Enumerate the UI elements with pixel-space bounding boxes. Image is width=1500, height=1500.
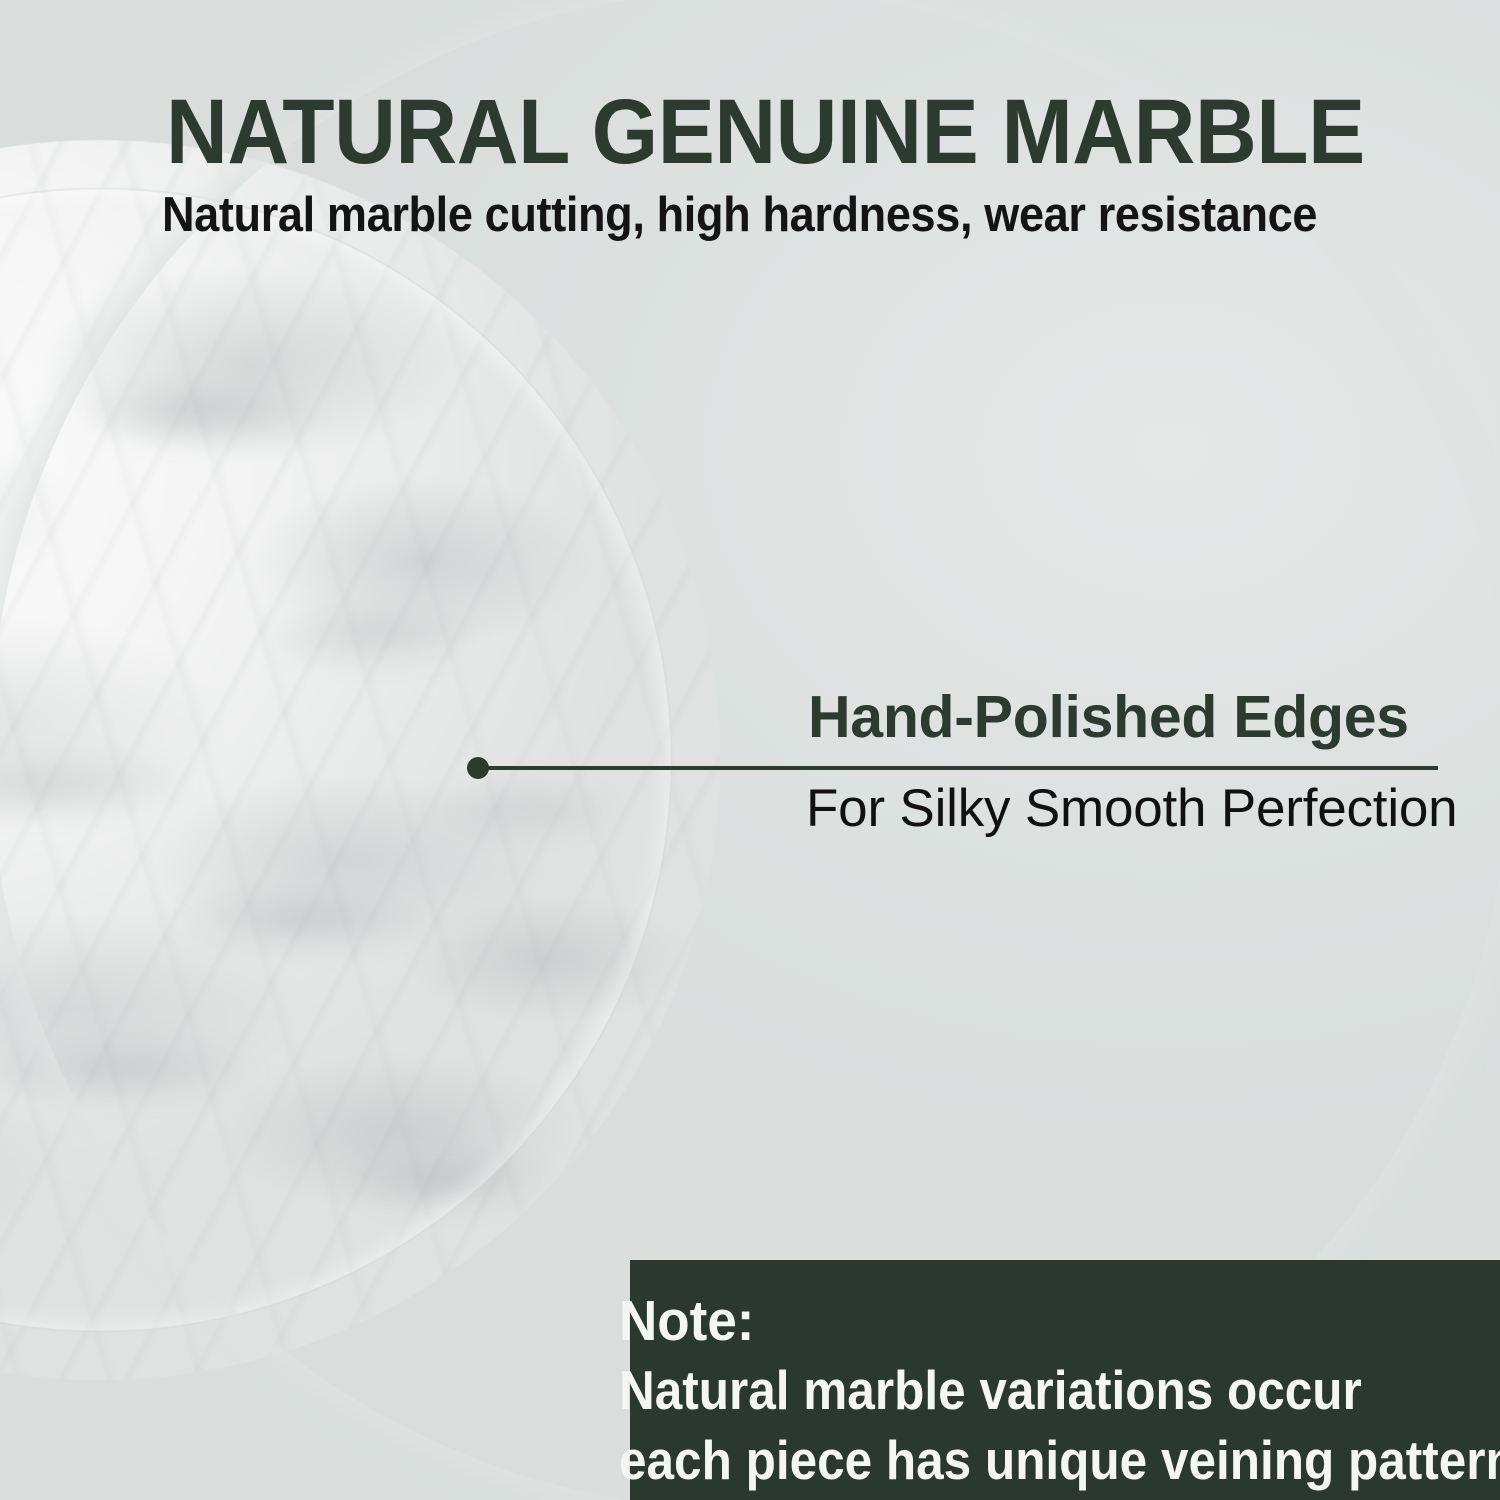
note-title: Note: [619, 1293, 754, 1350]
page-title: NATURAL GENUINE MARBLE [166, 86, 1365, 178]
note-line-1: Natural marble variations occur [619, 1363, 1362, 1418]
product-feature-image: NATURAL GENUINE MARBLE Natural marble cu… [0, 0, 1500, 1500]
note-line-2: each piece has unique veining patterns [619, 1433, 1500, 1488]
callout-title: Hand-Polished Edges [808, 688, 1409, 747]
page-subtitle: Natural marble cutting, high hardness, w… [162, 191, 1317, 240]
callout-subtitle: For Silky Smooth Perfection [806, 782, 1457, 835]
leader-line-icon [486, 766, 1438, 770]
